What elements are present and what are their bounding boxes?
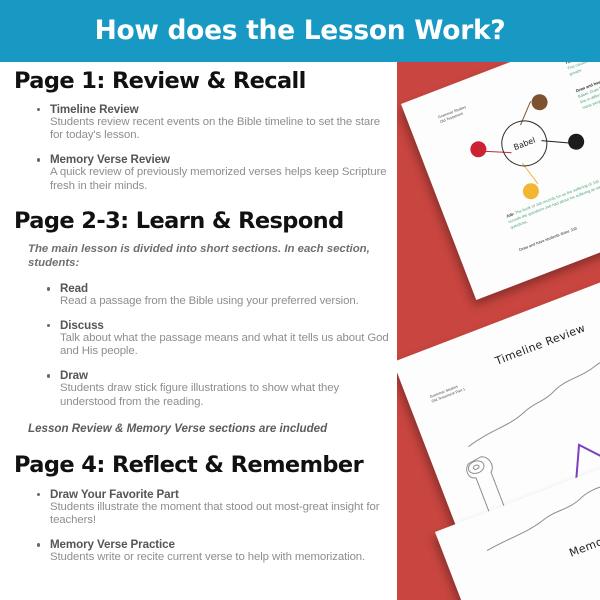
sheet1-corner-label: Grammar Studies Old Testament — [438, 105, 470, 126]
yellow-node — [521, 181, 542, 202]
black-node — [566, 131, 587, 152]
bullet-title: Discuss — [60, 319, 389, 333]
bullet-title: Read — [60, 282, 389, 296]
list-item: Draw Your Favorite Part Students illustr… — [34, 488, 389, 528]
sheet1-paragraph-1: The Scattering: As a result, God confuse… — [564, 62, 600, 78]
worksheet-showcase-panel: Grammar Studies Old Testament Babel The … — [397, 62, 600, 600]
bullet-title: Draw — [60, 369, 389, 383]
sheet2-heading: Timeline Review — [493, 321, 587, 367]
red-node — [468, 139, 489, 160]
page-title: How does the Lesson Work? — [95, 18, 506, 45]
bullet-dot-icon — [37, 493, 40, 496]
list-item: Discuss Talk about what the passage mean… — [44, 319, 389, 359]
bullet-dot-icon — [47, 374, 50, 377]
bullet-body: Students write or recite current verse t… — [50, 551, 389, 564]
bullet-body: Students review recent events on the Bib… — [50, 116, 389, 142]
bullet-dot-icon — [47, 287, 50, 290]
list-item: Timeline Review Students review recent e… — [34, 103, 389, 143]
section-title-page-2-3: Page 2-3: Learn & Respond — [14, 210, 389, 233]
bullet-dot-icon — [37, 108, 40, 111]
bullet-title: Memory Verse Practice — [50, 538, 389, 552]
bullet-title: Timeline Review — [50, 103, 389, 117]
sheet2-corner-label: Grammar Studies Old Testament Part 1 — [429, 382, 466, 405]
babel-label: Babel — [512, 135, 536, 152]
bullet-body: Read a passage from the Bible using your… — [60, 295, 389, 308]
lesson-content-column: Page 1: Review & Recall Timeline Review … — [0, 62, 397, 600]
section-closing-page-2-3: Lesson Review & Memory Verse sections ar… — [28, 422, 389, 436]
bullet-list-page-1: Timeline Review Students review recent e… — [34, 103, 389, 193]
section-title-page-4: Page 4: Reflect & Remember — [14, 454, 389, 477]
list-item: Draw Students draw stick figure illustra… — [44, 369, 389, 409]
bullet-title: Draw Your Favorite Part — [50, 488, 389, 502]
bullet-dot-icon — [37, 543, 40, 546]
section-page-1: Page 1: Review & Recall Timeline Review … — [14, 70, 389, 193]
section-title-page-1: Page 1: Review & Recall — [14, 70, 389, 93]
section-page-2-3: Page 2-3: Learn & Respond The main lesso… — [14, 210, 389, 436]
list-item: Read Read a passage from the Bible using… — [44, 282, 389, 309]
list-item: Memory Verse Practice Students write or … — [34, 538, 389, 565]
bullet-body: Students draw stick figure illustrations… — [60, 382, 389, 408]
section-intro-page-2-3: The main lesson is divided into short se… — [28, 242, 389, 271]
list-item: Memory Verse Review A quick review of pr… — [34, 153, 389, 193]
bullet-body: Students illustrate the moment that stoo… — [50, 501, 389, 527]
bullet-list-page-2-3: Read Read a passage from the Bible using… — [44, 282, 389, 409]
header-band: How does the Lesson Work? — [0, 0, 600, 62]
brown-node — [529, 92, 550, 113]
slide-root: How does the Lesson Work? Grammar Studie… — [0, 0, 600, 600]
bullet-title: Memory Verse Review — [50, 153, 389, 167]
section-page-4: Page 4: Reflect & Remember Draw Your Fav… — [14, 454, 389, 565]
bullet-body: Talk about what the passage means and wh… — [60, 332, 389, 358]
worksheet-sheet-babel: Grammar Studies Old Testament Babel The … — [401, 62, 600, 300]
bullet-body: A quick review of previously memorized v… — [50, 166, 389, 192]
babel-center-node: Babel — [495, 114, 554, 173]
bullet-list-page-4: Draw Your Favorite Part Students illustr… — [34, 488, 389, 565]
bullet-dot-icon — [47, 324, 50, 327]
bullet-dot-icon — [37, 158, 40, 161]
